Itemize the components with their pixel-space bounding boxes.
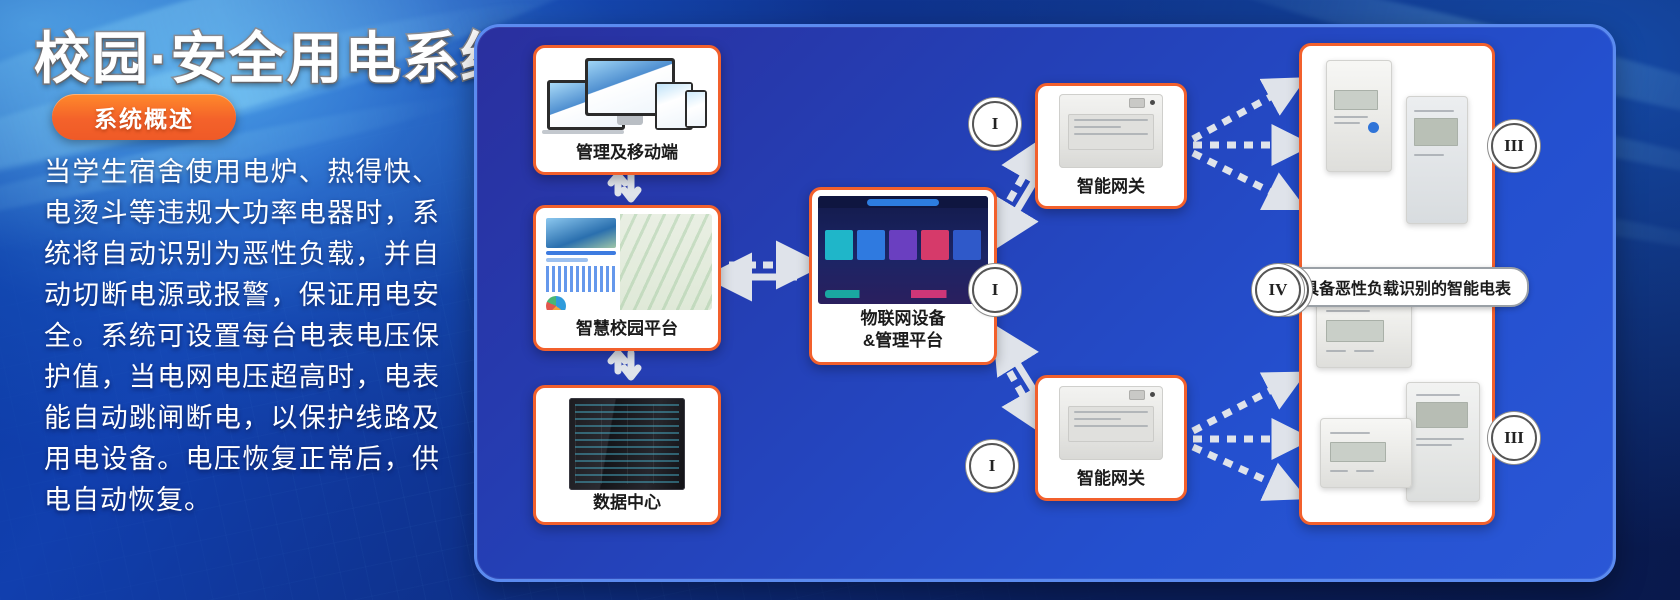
node-smart-gateway-bottom[interactable]: 智能网关 — [1035, 375, 1187, 501]
node-label: 智能网关 — [1038, 468, 1184, 490]
devices-icon — [547, 58, 707, 136]
dashboard-map-icon — [542, 214, 712, 310]
badge-roman-3-gateway-top: III — [1491, 123, 1537, 169]
meter-group-label: 具备恶性负载识别的智能电表 — [1303, 275, 1511, 299]
overview-paragraph: 当学生宿舍使用电炉、热得快、电烫斗等违规大功率电器时，系统将自动识别为恶性负载，… — [44, 152, 440, 521]
node-label: 管理及移动端 — [536, 142, 718, 164]
node-label: 物联网设备 — [812, 308, 994, 330]
gateway-device-icon — [1059, 386, 1163, 460]
overview-panel: 校园·安全用电系统 系统概述 当学生宿舍使用电炉、热得快、电烫斗等违规大功率电器… — [0, 0, 470, 600]
node-label: 数据中心 — [536, 492, 718, 514]
section-badge-label: 系统概述 — [94, 100, 194, 134]
node-management-mobile[interactable]: 管理及移动端 — [533, 45, 721, 175]
node-data-center[interactable]: 数据中心 — [533, 385, 721, 525]
section-badge: 系统概述 — [52, 94, 236, 140]
badge-roman-1-management: I — [972, 101, 1018, 147]
diagram-panel: 管理及移动端 I 智慧校园平台 I 数据中心 I 物联网设备 &管理平台 — [474, 24, 1616, 582]
badge-roman-1-campus: I — [972, 267, 1018, 313]
node-iot-platform[interactable]: 物联网设备 &管理平台 — [809, 187, 997, 365]
badge-roman-1-datacenter: I — [969, 443, 1015, 489]
badge-roman-4-meters: IV — [1255, 267, 1301, 313]
server-rack-icon — [569, 398, 685, 490]
node-label: 智慧校园平台 — [536, 318, 718, 340]
gateway-device-icon — [1059, 94, 1163, 168]
node-smart-gateway-top[interactable]: 智能网关 — [1035, 83, 1187, 209]
page-title: 校园·安全用电系统 — [34, 14, 519, 95]
node-label-second-line: &管理平台 — [812, 330, 994, 352]
badge-roman-3-gateway-bottom: III — [1491, 415, 1537, 461]
node-smart-campus-platform[interactable]: 智慧校园平台 — [533, 205, 721, 351]
node-label: 智能网关 — [1038, 176, 1184, 198]
iot-dashboard-icon — [818, 196, 988, 304]
